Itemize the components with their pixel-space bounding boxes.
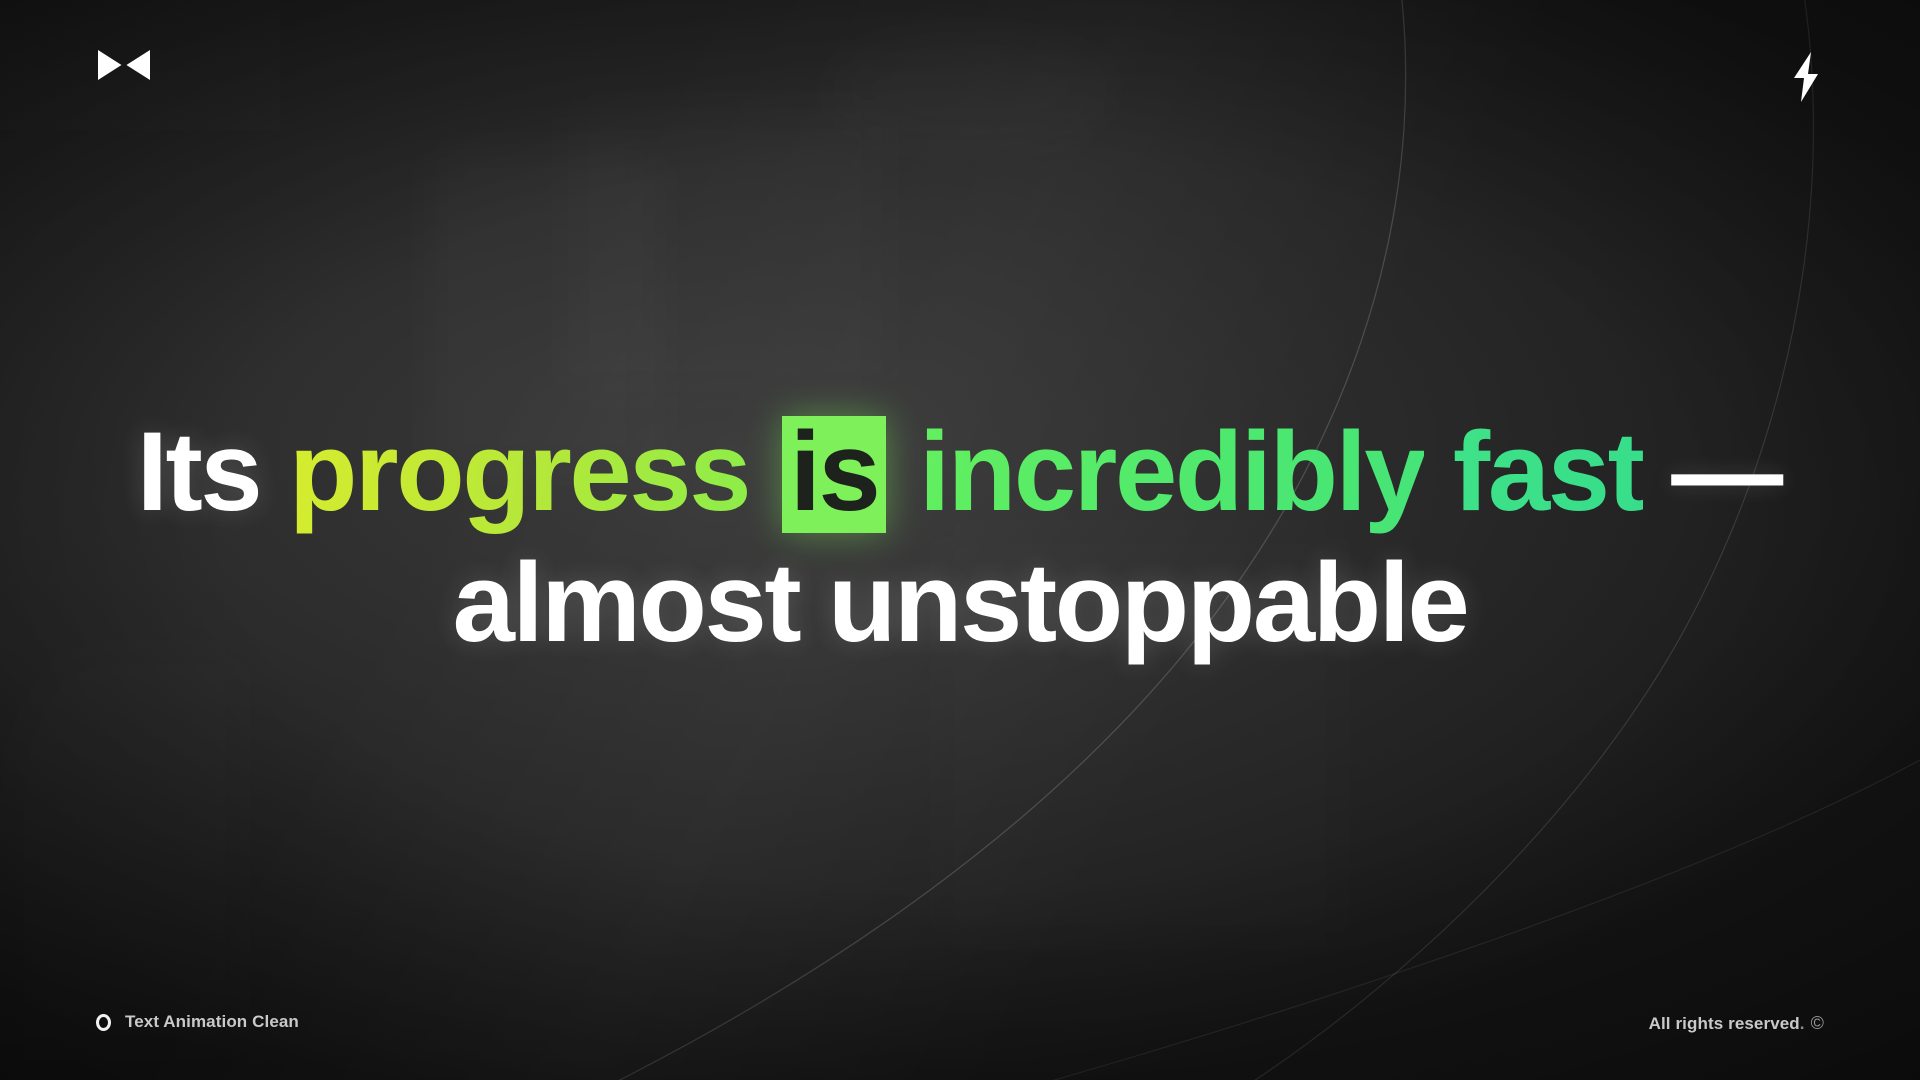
footer-rights-label: All rights reserved	[1649, 1014, 1800, 1034]
slide-canvas: Its progress is incredibly fast — almost…	[0, 0, 1920, 1080]
headline-em-dash: —	[1671, 409, 1783, 534]
bowtie-logo-icon[interactable]	[98, 48, 150, 82]
headline-line-2: almost unstoppable	[0, 545, 1920, 660]
headline-word-its: Its	[137, 409, 261, 534]
footer-right: All rights reserved . ©	[1649, 1013, 1824, 1034]
headline-green-run: progress is incredibly fast	[289, 409, 1643, 534]
ring-icon	[96, 1014, 111, 1031]
footer-rights-period: .	[1800, 1014, 1805, 1034]
headline-line-1: Its progress is incredibly fast —	[0, 414, 1920, 533]
headline-word-progress: progress	[289, 409, 749, 534]
headline: Its progress is incredibly fast — almost…	[0, 414, 1920, 660]
headline-word-incredibly: incredibly	[919, 409, 1424, 534]
footer-project-label: Text Animation Clean	[125, 1012, 299, 1032]
footer-left: Text Animation Clean	[96, 1012, 299, 1032]
copyright-icon: ©	[1811, 1013, 1824, 1034]
lightning-bolt-icon[interactable]	[1788, 52, 1824, 102]
headline-word-is-highlight[interactable]: is	[782, 416, 887, 533]
headline-word-fast: fast	[1453, 409, 1643, 534]
